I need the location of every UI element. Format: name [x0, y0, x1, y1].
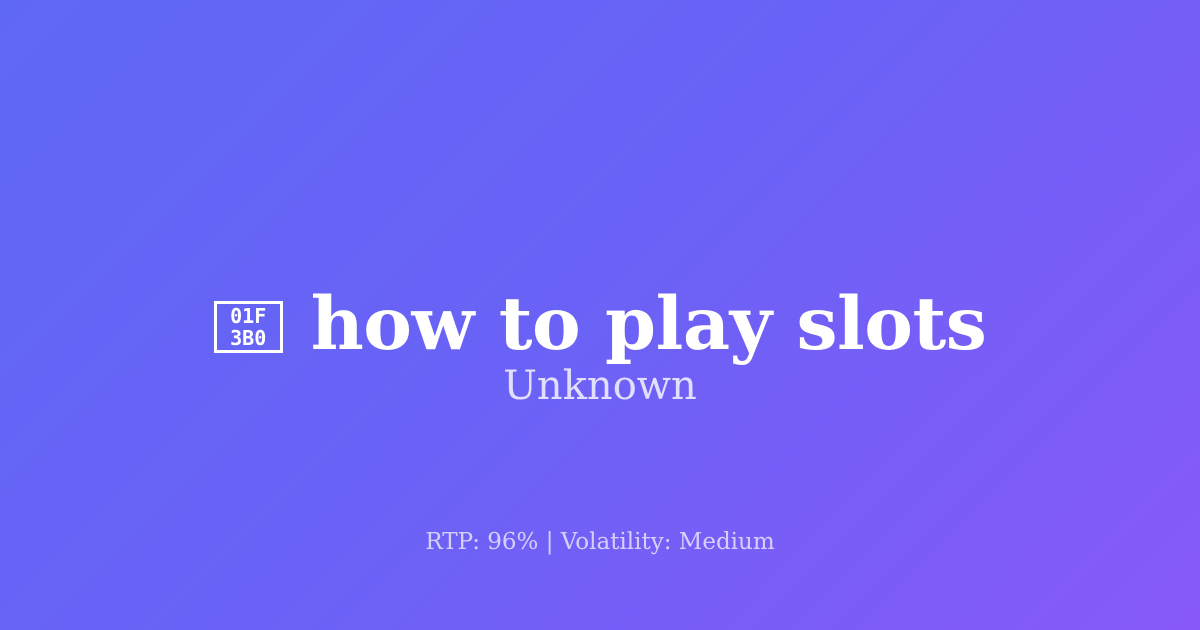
- page-title: how to play slots: [311, 281, 987, 367]
- slot-game-share-card: 01F 3B0 how to play slots Unknown RTP: 9…: [0, 0, 1200, 630]
- slot-machine-emoji-codepoint-top: 01F: [230, 305, 266, 327]
- slot-machine-emoji: 01F 3B0: [214, 301, 283, 353]
- game-stats-footer: RTP: 96% | Volatility: Medium: [0, 526, 1200, 558]
- slot-machine-emoji-codepoint-bottom: 3B0: [230, 327, 266, 349]
- game-provider-subtitle: Unknown: [0, 362, 1200, 410]
